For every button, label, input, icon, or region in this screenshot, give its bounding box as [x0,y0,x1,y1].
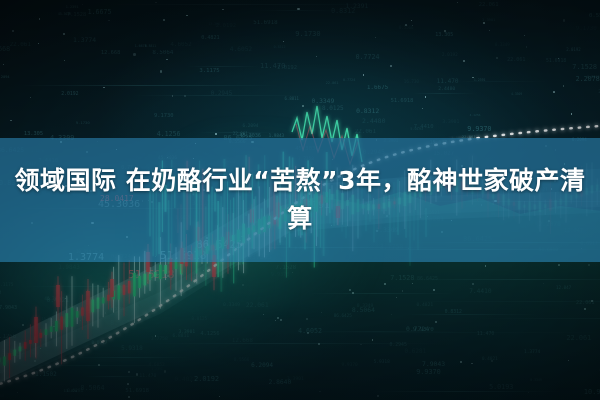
thumbnail-image: 51.69183.39018.50643.77588.50642.448022.… [0,0,600,400]
page-title: 领域国际 在奶酪行业“苦熬”3年，酩神世家破产清算 [12,162,588,238]
headline-band: 领域国际 在奶酪行业“苦熬”3年，酩神世家破产清算 [0,138,600,262]
